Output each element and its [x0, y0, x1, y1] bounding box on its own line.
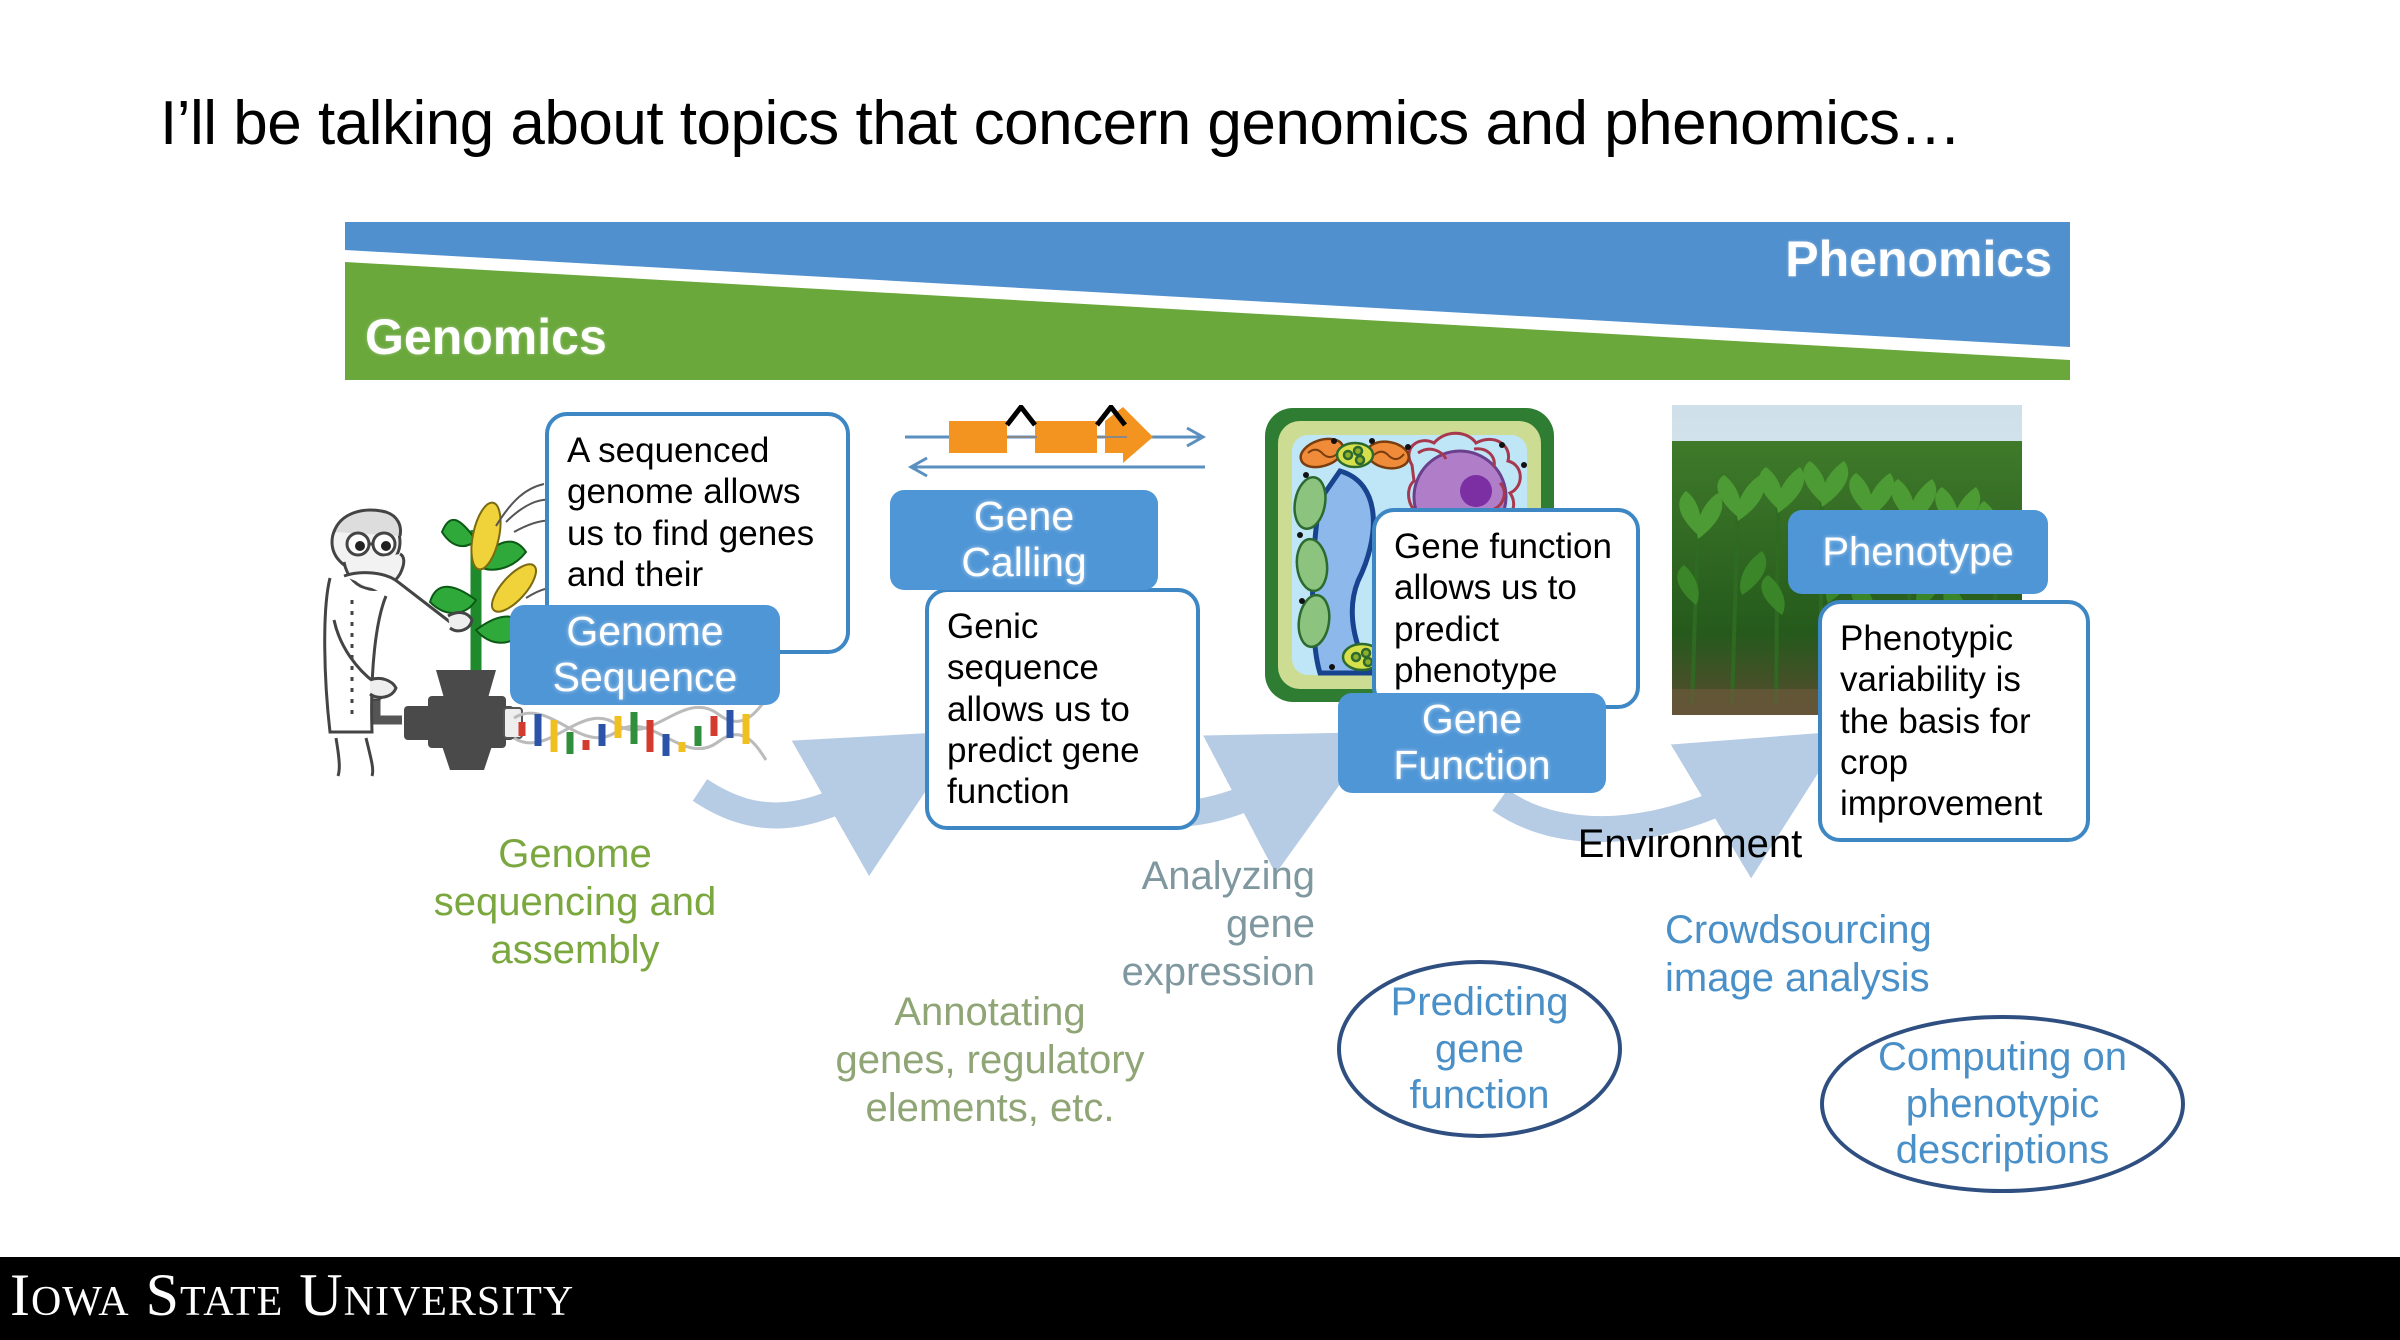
iowa-state-university-wordmark: Iowa State University — [10, 1261, 574, 1330]
callout-phenotype: Phenotypic variability is the basis for … — [1818, 600, 2090, 842]
chip-genome-sequence[interactable]: Genome Sequence — [510, 605, 780, 705]
genomics-phenomics-banner: Genomics Phenomics — [345, 222, 2070, 380]
caption-genome-assembly: Genome sequencing and assembly — [405, 830, 745, 974]
gene-model-diagram — [905, 405, 1210, 495]
bubble-computing-phenotypic-descriptions[interactable]: Computing on phenotypic descriptions — [1820, 1015, 2185, 1193]
bubble-predicting-gene-function[interactable]: Predicting gene function — [1337, 960, 1622, 1138]
slide-canvas: I’ll be talking about topics that concer… — [0, 0, 2400, 1340]
exon-1 — [949, 421, 1007, 453]
banner-label-genomics: Genomics — [365, 308, 607, 366]
exon-3-arrow — [1105, 407, 1153, 463]
chip-phenotype[interactable]: Phenotype — [1788, 510, 2048, 594]
caption-crowdsourcing: Crowdsourcing image analysis — [1665, 906, 2025, 1002]
intron-1 — [1007, 407, 1035, 425]
dna-helix-icon — [514, 700, 766, 760]
caption-analyzing-expression: Analyzing gene expression — [1095, 852, 1315, 996]
page-title: I’ll be talking about topics that concer… — [160, 88, 2310, 159]
banner-label-phenomics: Phenomics — [1785, 230, 2052, 288]
chip-gene-function[interactable]: Gene Function — [1338, 693, 1606, 793]
callout-gene-function: Gene function allows us to predict pheno… — [1372, 508, 1640, 709]
exon-2 — [1035, 421, 1097, 453]
callout-gene-calling: Genic sequence allows us to predict gene… — [925, 588, 1200, 830]
caption-annotating-genes: Annotating genes, regulatory elements, e… — [810, 988, 1170, 1132]
chip-gene-calling[interactable]: Gene Calling — [890, 490, 1158, 590]
footer-bar: Iowa State University — [0, 1257, 2400, 1340]
label-environment: Environment — [1560, 820, 1820, 868]
